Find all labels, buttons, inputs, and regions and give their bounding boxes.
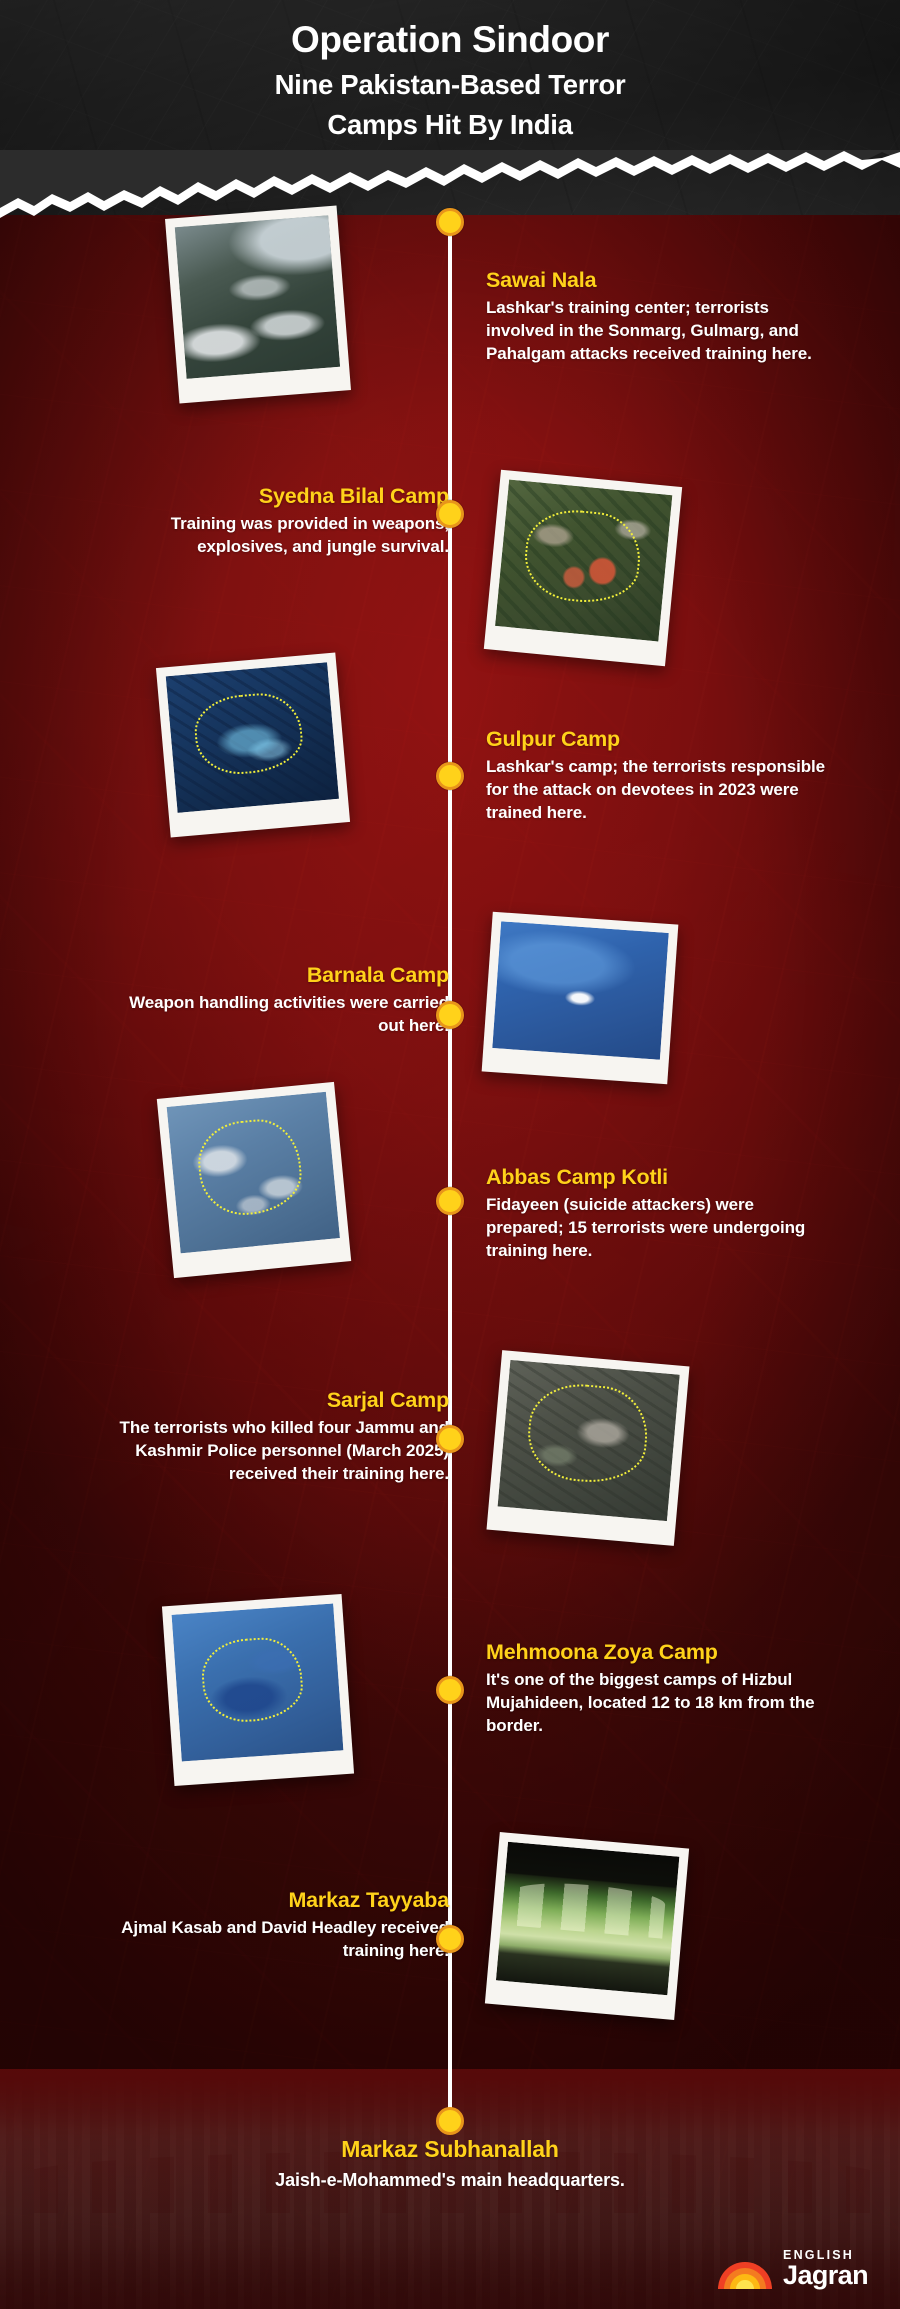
entry-title: Mehmoona Zoya Camp (486, 1640, 826, 1666)
target-outline (199, 1635, 305, 1724)
entry-description: Lashkar's training center; terrorists in… (486, 297, 826, 366)
mosque-night-photo-image (496, 1842, 679, 1995)
photo-sawai-nala (165, 206, 351, 404)
entry-title: Sarjal Camp (119, 1388, 449, 1414)
photo-sarjal-camp (487, 1350, 690, 1546)
photo-abbas-camp-kotli (157, 1082, 351, 1278)
page-subtitle-line2: Camps Hit By India (0, 108, 900, 142)
entry-title: Abbas Camp Kotli (486, 1165, 826, 1191)
entry-title: Syedna Bilal Camp (119, 484, 449, 510)
entry-syedna-bilal-camp: Syedna Bilal Camp Training was provided … (119, 484, 449, 559)
entry-description: Jaish-e-Mohammed's main headquarters. (0, 2168, 900, 2192)
target-outline (194, 1115, 305, 1218)
photo-barnala-camp (482, 912, 679, 1085)
photo-syedna-bilal-camp (484, 470, 682, 667)
satellite-compound-outline-image (167, 1092, 340, 1254)
entry-title: Barnala Camp (119, 963, 449, 989)
satellite-forest-outline-image (166, 662, 339, 813)
page-title: Operation Sindoor (0, 19, 900, 62)
entry-gulpur-camp: Gulpur Camp Lashkar's camp; the terroris… (486, 727, 826, 825)
satellite-grey-compound-image (498, 1360, 680, 1521)
timeline-dot-8 (436, 1925, 464, 1953)
timeline-dot-7 (436, 1676, 464, 1704)
entry-title: Sawai Nala (486, 268, 826, 294)
target-outline (524, 1380, 651, 1487)
sunburst-icon (718, 2249, 772, 2289)
entry-sarjal-camp: Sarjal Camp The terrorists who killed fo… (119, 1388, 449, 1486)
timeline-dot-4 (436, 1001, 464, 1029)
target-outline (192, 689, 305, 777)
photo-mehmoona-zoya-camp (162, 1594, 354, 1786)
timeline-dot-9 (436, 2107, 464, 2135)
header-banner: Operation Sindoor Nine Pakistan-Based Te… (0, 0, 900, 215)
infographic-page: Operation Sindoor Nine Pakistan-Based Te… (0, 0, 900, 2309)
timeline-dot-6 (436, 1425, 464, 1453)
entry-description: Ajmal Kasab and David Headley received t… (119, 1917, 449, 1963)
entry-markaz-tayyaba: Markaz Tayyaba Ajmal Kasab and David Hea… (119, 1888, 449, 1963)
timeline-dot-3 (436, 762, 464, 790)
title-block: Operation Sindoor Nine Pakistan-Based Te… (0, 0, 900, 142)
satellite-hillside-road-image (175, 215, 340, 379)
entry-mehmoona-zoya-camp: Mehmoona Zoya Camp It's one of the bigge… (486, 1640, 826, 1738)
timeline-dot-2 (436, 500, 464, 528)
entry-description: Lashkar's camp; the terrorists responsib… (486, 756, 826, 825)
target-outline (521, 505, 644, 607)
page-subtitle-line1: Nine Pakistan-Based Terror (0, 68, 900, 102)
photo-markaz-tayyaba (485, 1832, 689, 2020)
mosque-arch-windows (511, 1879, 666, 1939)
entry-description: It's one of the biggest camps of Hizbul … (486, 1669, 826, 1738)
entry-description: The terrorists who killed four Jammu and… (119, 1417, 449, 1486)
satellite-village-compound-image (495, 480, 672, 642)
entry-title: Markaz Subhanallah (0, 2136, 900, 2164)
photo-gulpur-camp (156, 652, 350, 837)
entry-markaz-subhanallah: Markaz Subhanallah Jaish-e-Mohammed's ma… (0, 2136, 900, 2192)
entry-description: Weapon handling activities were carried … (119, 992, 449, 1038)
entry-title: Markaz Tayyaba (119, 1888, 449, 1914)
satellite-blue-terrain-image (492, 921, 668, 1059)
entry-description: Training was provided in weapons, explos… (119, 513, 449, 559)
brand-name: Jagran (783, 2262, 868, 2289)
entry-sawai-nala: Sawai Nala Lashkar's training center; te… (486, 268, 826, 366)
entry-abbas-camp-kotli: Abbas Camp Kotli Fidayeen (suicide attac… (486, 1165, 826, 1263)
timeline-dot-5 (436, 1187, 464, 1215)
timeline-dot-1 (436, 208, 464, 236)
entry-barnala-camp: Barnala Camp Weapon handling activities … (119, 963, 449, 1038)
entry-title: Gulpur Camp (486, 727, 826, 753)
brand-logo[interactable]: ENGLISH Jagran (718, 2249, 868, 2290)
brand-logo-text: ENGLISH Jagran (783, 2249, 868, 2290)
entry-description: Fidayeen (suicide attackers) were prepar… (486, 1194, 826, 1263)
satellite-lake-outline-image (172, 1604, 344, 1762)
